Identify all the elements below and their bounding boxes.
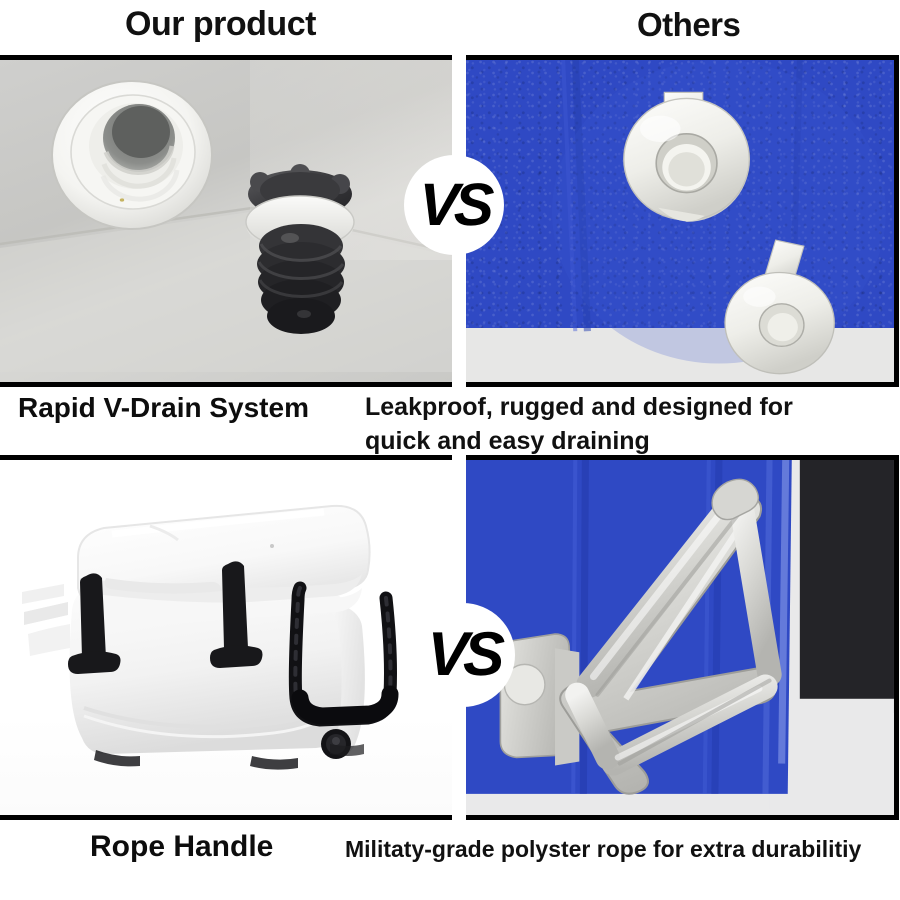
- spout-and-cap-illustration: [466, 60, 894, 376]
- feature-description-drain: Leakproof, rugged and designed for quick…: [365, 390, 845, 458]
- photo-our-rope-handle: [0, 455, 452, 820]
- heading-others: Others: [637, 6, 740, 44]
- versus-badge-bottom: VS: [411, 603, 515, 707]
- versus-label: VS: [418, 175, 490, 235]
- product-comparison-sheet: Our product Others: [0, 0, 900, 900]
- photo-others-drain-system: [466, 55, 899, 387]
- drain-port-illustration: [0, 60, 452, 372]
- feature-title-drain: Rapid V-Drain System: [18, 392, 309, 424]
- feature-description-rope-handle: Militaty-grade polyster rope for extra d…: [345, 836, 861, 863]
- photo-others-handle: [466, 455, 899, 820]
- versus-label: VS: [426, 624, 501, 686]
- white-cooler-illustration: [0, 460, 452, 805]
- rigid-handle-illustration: [466, 460, 894, 809]
- photo-our-drain-system: [0, 55, 452, 387]
- versus-badge-top: VS: [404, 155, 504, 255]
- feature-title-rope-handle: Rope Handle: [90, 830, 273, 864]
- heading-our-product: Our product: [125, 5, 316, 44]
